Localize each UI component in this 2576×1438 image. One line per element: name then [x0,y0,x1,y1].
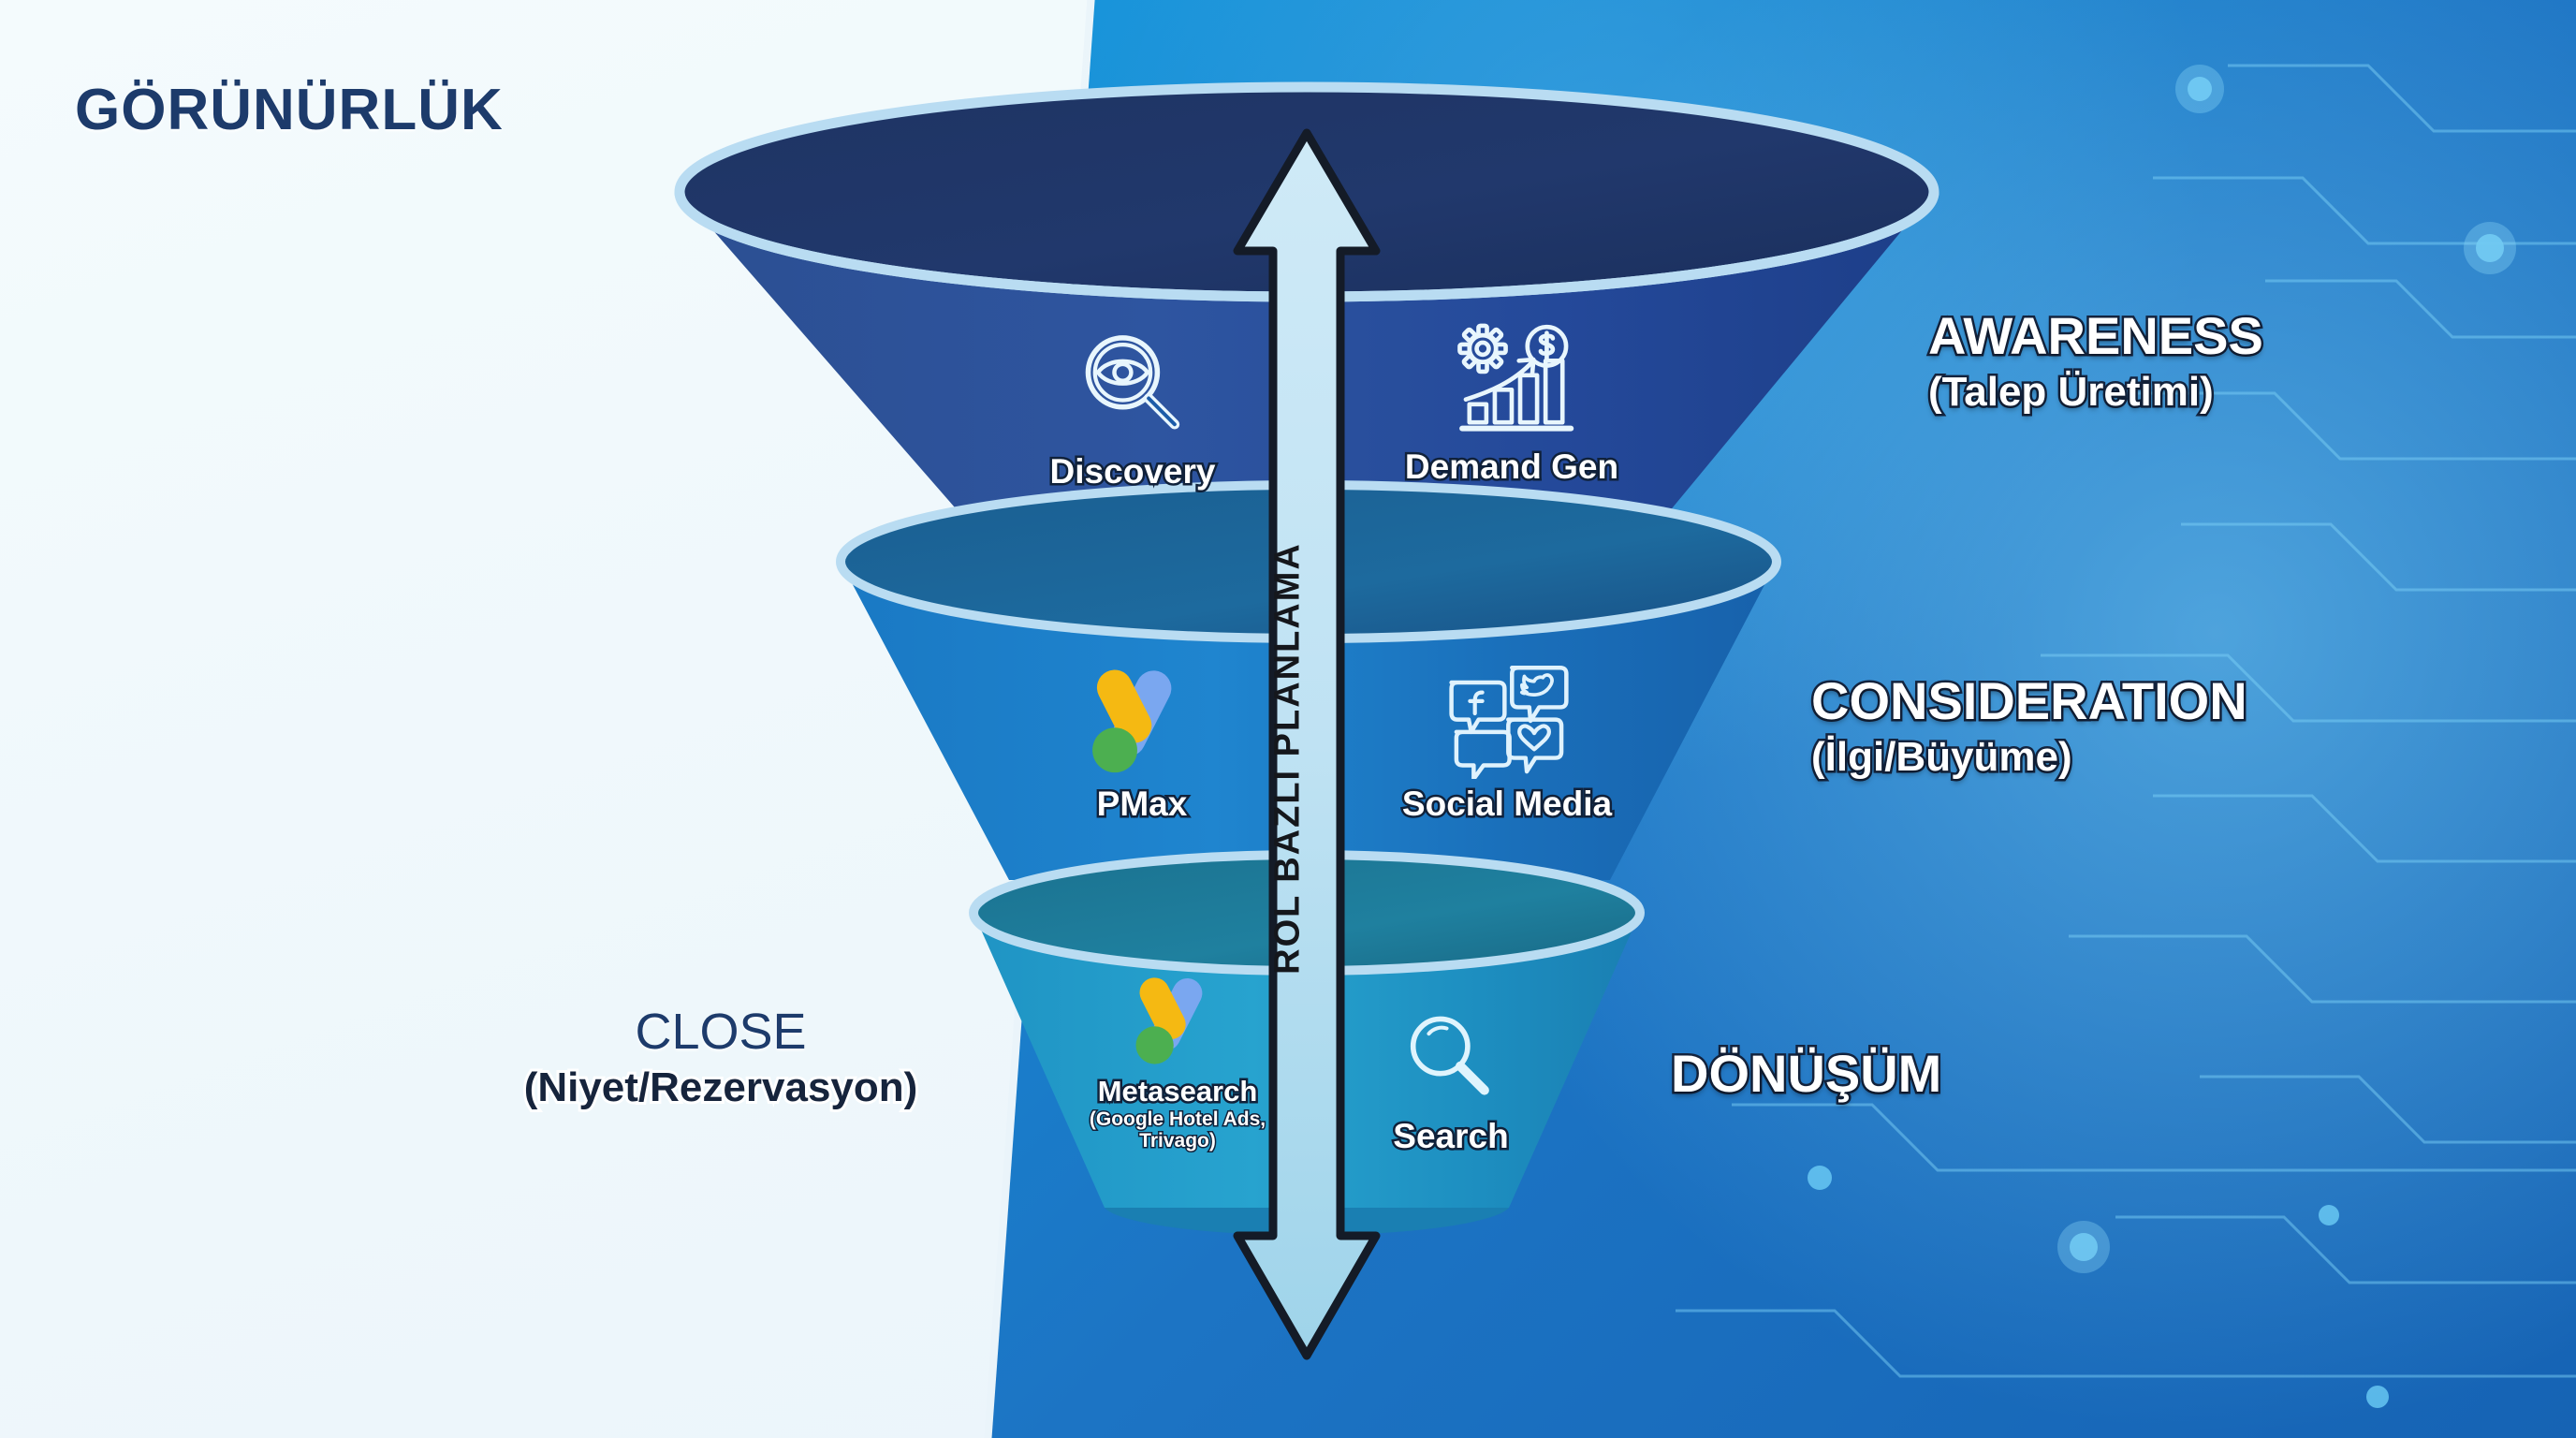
item-label: Discovery [997,452,1268,492]
gear-growth-chart-dollar-icon [1445,318,1578,442]
funnel-item-discovery[interactable]: Discovery [997,323,1268,492]
stage-label-conversion-en: DÖNÜŞÜM [1671,1047,1941,1100]
arrow-label: ROL BAZLI PLANLAMA [1268,542,1309,975]
item-sublabel: (Google Hotel Ads, Trivago) [1070,1108,1285,1152]
funnel-item-metasearch[interactable]: Metasearch (Google Hotel Ads, Trivago) [1070,974,1285,1152]
funnel-item-demand-gen[interactable]: Demand Gen [1362,318,1661,487]
stage-label-close-tr: (Niyet/Rezervasyon) [459,1062,983,1113]
funnel-item-social-media[interactable]: Social Media [1362,655,1652,824]
stage-label-awareness-en: AWARENESS [1928,309,2263,362]
item-label: Social Media [1362,785,1652,824]
stage-label-close: CLOSE (Niyet/Rezervasyon) [459,1006,983,1113]
funnel-item-pmax[interactable]: PMax [1039,665,1245,824]
funnel-item-search[interactable]: Search [1348,1006,1554,1156]
funnel-infographic: ROL BAZLI PLANLAMA Discovery [0,0,2576,1438]
item-label: PMax [1039,785,1245,824]
magnifier-icon [1398,1006,1503,1111]
magnifier-eye-icon [1071,323,1194,447]
stage-label-consideration-en: CONSIDERATION [1811,674,2247,727]
google-ads-logo-icon [1128,974,1227,1069]
item-label: Metasearch [1070,1075,1285,1108]
stage-label-awareness: AWARENESS (Talep Üretimi) [1928,309,2263,418]
stage-label-consideration-tr: (İlgi/Büyüme) [1811,731,2247,783]
google-ads-logo-icon [1083,665,1201,779]
stage-label-awareness-tr: (Talep Üretimi) [1928,366,2263,418]
page-title-visibility: GÖRÜNÜRLÜK [75,77,504,143]
stage-label-consideration: CONSIDERATION (İlgi/Büyüme) [1811,674,2247,783]
stage-label-close-en: CLOSE [459,1006,983,1058]
item-label: Search [1348,1117,1554,1156]
item-label: Demand Gen [1362,448,1661,487]
stage-label-conversion: DÖNÜŞÜM [1671,1047,1941,1100]
speech-bubbles-social-icon [1442,655,1573,779]
